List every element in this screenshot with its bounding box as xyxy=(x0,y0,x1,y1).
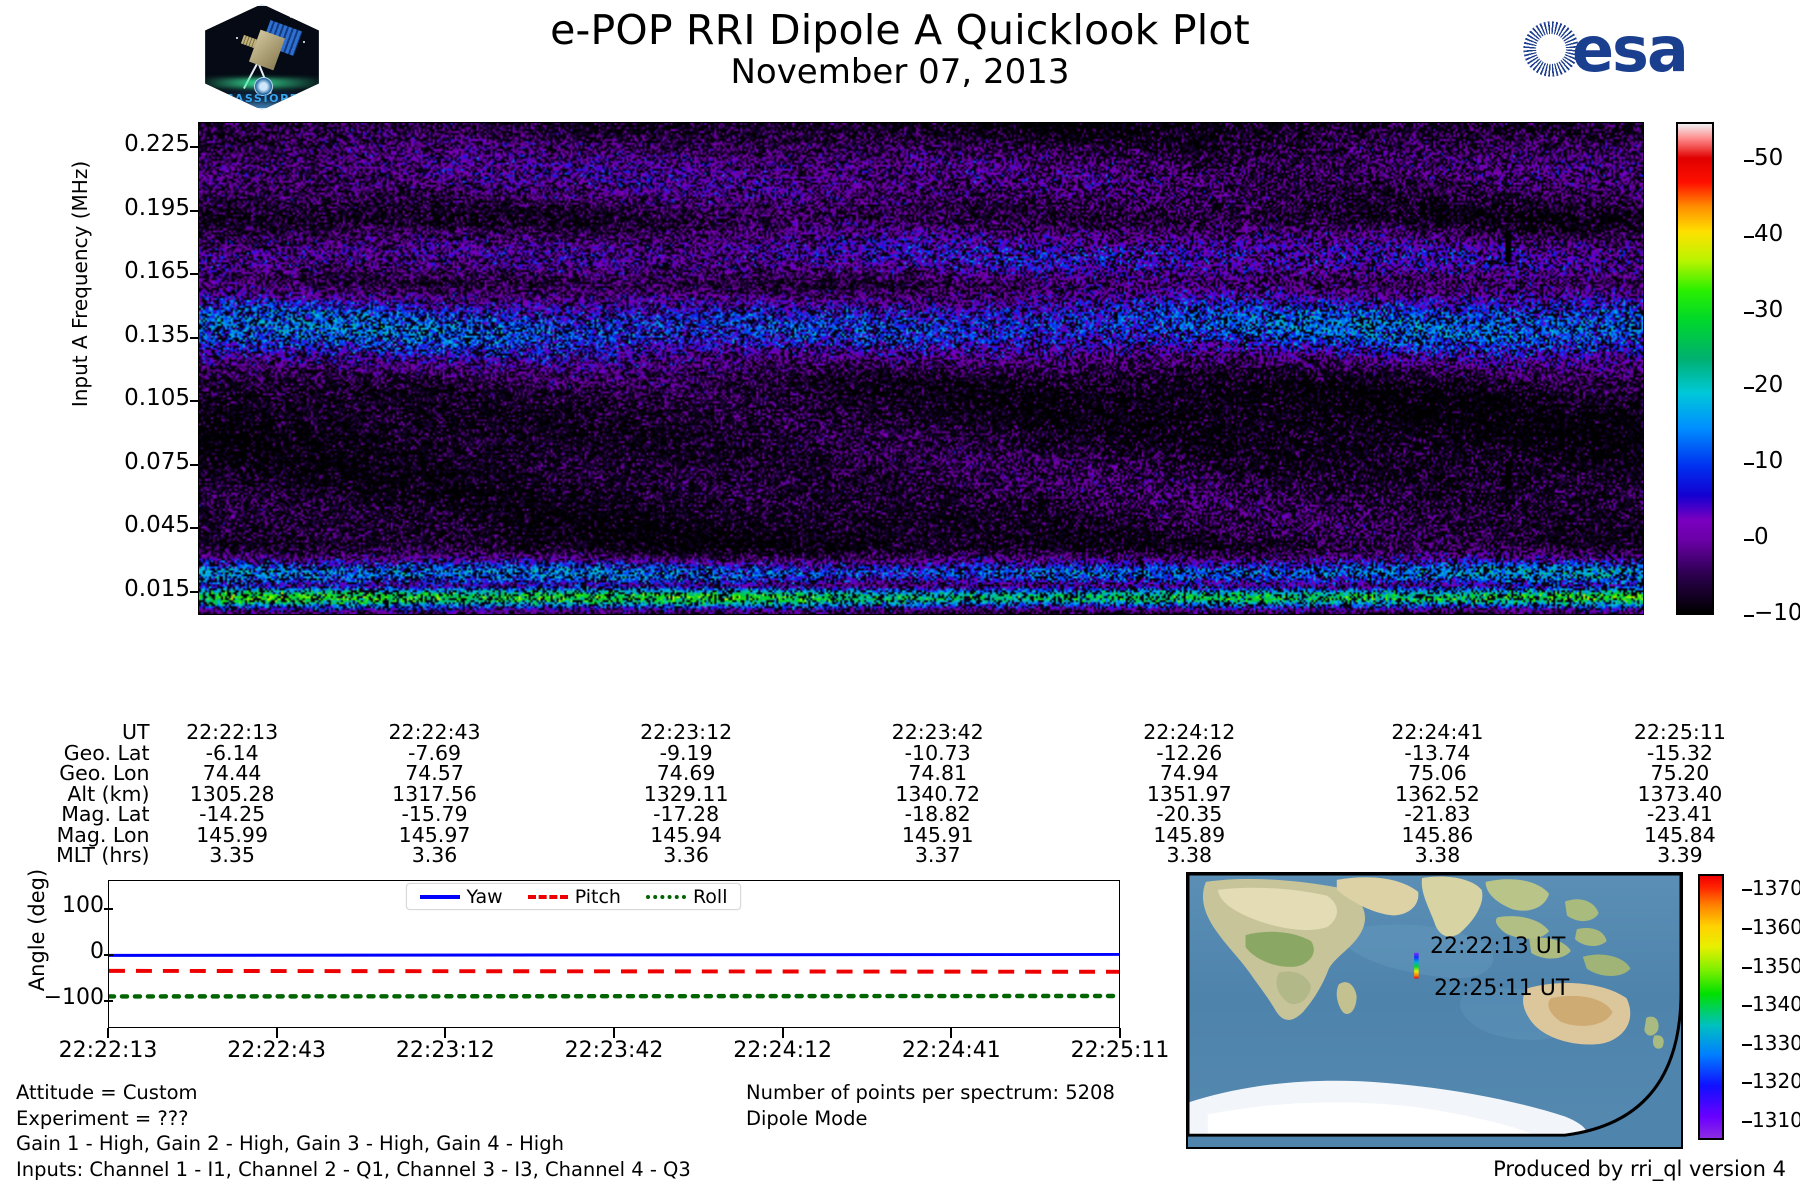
ephemeris-cell: -9.19 xyxy=(560,743,812,764)
altitude-colorbar-ticks: 1370136013501340133013201310 xyxy=(1724,874,1800,1140)
ephemeris-cell: 22:23:12 xyxy=(560,722,812,743)
altitude-colorbar xyxy=(1698,874,1724,1140)
altitude-colorbar-tickmark xyxy=(1742,967,1752,969)
legend-item-yaw: Yaw xyxy=(420,886,503,908)
esa-wordmark: esa xyxy=(1572,13,1687,86)
map-end-time-label: 22:25:11 UT xyxy=(1434,976,1569,1001)
altitude-colorbar-tick: 1350 xyxy=(1752,954,1800,978)
voltage-colorbar-tickmark xyxy=(1744,539,1754,541)
spectrogram-y-tick: 0.135 xyxy=(40,322,190,348)
altitude-colorbar-tick: 1370 xyxy=(1752,876,1800,900)
ephemeris-cell: -15.79 xyxy=(309,804,561,825)
attitude-x-tickmark xyxy=(950,1028,952,1038)
ephemeris-cell: 74.44 xyxy=(156,763,309,784)
ephemeris-cell: 22:25:11 xyxy=(1560,722,1800,743)
ephemeris-cell: 3.38 xyxy=(1063,845,1315,866)
ephemeris-cell: 22:23:42 xyxy=(812,722,1064,743)
altitude-colorbar-tick: 1310 xyxy=(1752,1108,1800,1132)
ephemeris-cell: 74.81 xyxy=(812,763,1064,784)
spectrogram-y-tick: 0.075 xyxy=(40,449,190,475)
yaw-line-swatch-icon xyxy=(420,895,460,899)
ephemeris-table: UT22:22:1322:22:4322:23:1222:23:4222:24:… xyxy=(0,722,1800,866)
ephemeris-row: Geo. Lon74.4474.5774.6974.8174.9475.0675… xyxy=(0,763,1800,784)
spectrogram-y-tick: 0.105 xyxy=(40,385,190,411)
voltage-colorbar-tick: 10 xyxy=(1754,448,1783,474)
attitude-y-tickmark xyxy=(104,1000,113,1002)
altitude-colorbar-tickmark xyxy=(1742,928,1752,930)
voltage-colorbar xyxy=(1676,122,1714,615)
spectrogram-y-tick: 0.195 xyxy=(40,195,190,221)
ephemeris-cell: -10.73 xyxy=(812,743,1064,764)
ephemeris-cell: 74.94 xyxy=(1063,763,1315,784)
roll-line-swatch-icon xyxy=(646,895,686,899)
voltage-colorbar-tick: 30 xyxy=(1754,297,1783,323)
voltage-colorbar-tick: −10 xyxy=(1754,600,1800,626)
ephemeris-cell: -17.28 xyxy=(560,804,812,825)
spectrogram-y-tickmark xyxy=(190,146,199,148)
spectrogram-y-tick: 0.225 xyxy=(40,131,190,157)
ephemeris-cell: 22:22:13 xyxy=(156,722,309,743)
ephemeris-row: Mag. Lon145.99145.97145.94145.91145.8914… xyxy=(0,825,1800,846)
ground-track-map xyxy=(1186,872,1683,1149)
ephemeris-row-label: MLT (hrs) xyxy=(0,845,156,866)
ephemeris-cell: 145.99 xyxy=(156,825,309,846)
attitude-y-tick: 0 xyxy=(14,939,104,964)
ephemeris-cell: 3.38 xyxy=(1315,845,1560,866)
footer-gain-line: Gain 1 - High, Gain 2 - High, Gain 3 - H… xyxy=(16,1131,691,1157)
attitude-x-tick: 22:24:12 xyxy=(703,1038,863,1063)
voltage-colorbar-tickmark xyxy=(1744,312,1754,314)
ephemeris-cell: -23.41 xyxy=(1560,804,1800,825)
ephemeris-cell: 22:22:43 xyxy=(309,722,561,743)
spectrogram-panel xyxy=(198,122,1644,615)
ephemeris-cell: -7.69 xyxy=(309,743,561,764)
legend-label-roll: Roll xyxy=(693,886,728,908)
ephemeris-cell: 3.36 xyxy=(560,845,812,866)
attitude-x-tickmark xyxy=(444,1028,446,1038)
spectrogram-y-tickmark xyxy=(190,400,199,402)
voltage-colorbar-tickmark xyxy=(1744,160,1754,162)
attitude-y-tickmark xyxy=(104,954,113,956)
footer-experiment-line: Experiment = ??? xyxy=(16,1106,691,1132)
ephemeris-row: Mag. Lat-14.25-15.79-17.28-18.82-20.35-2… xyxy=(0,804,1800,825)
spectrogram-y-tick: 0.045 xyxy=(40,512,190,538)
ephemeris-cell: 75.06 xyxy=(1315,763,1560,784)
ephemeris-cell: 1351.97 xyxy=(1063,784,1315,805)
ephemeris-cell: 3.36 xyxy=(309,845,561,866)
ephemeris-row-label: Geo. Lat xyxy=(0,743,156,764)
attitude-x-tickmark xyxy=(613,1028,615,1038)
voltage-colorbar-tickmark xyxy=(1744,463,1754,465)
legend-item-roll: Roll xyxy=(646,886,728,908)
footer-left-block: Attitude = Custom Experiment = ??? Gain … xyxy=(16,1080,691,1182)
altitude-colorbar-tickmark xyxy=(1742,889,1752,891)
spectrogram-y-tickmark xyxy=(190,273,199,275)
attitude-y-ticks: 1000−100 xyxy=(0,880,104,1028)
altitude-colorbar-tickmark xyxy=(1742,1082,1752,1084)
ephemeris-cell: 145.84 xyxy=(1560,825,1800,846)
ephemeris-cell: 74.69 xyxy=(560,763,812,784)
voltage-colorbar-tick: 0 xyxy=(1754,524,1769,550)
ephemeris-cell: -13.74 xyxy=(1315,743,1560,764)
spectrogram-y-tickmark xyxy=(190,591,199,593)
ephemeris-row: Alt (km)1305.281317.561329.111340.721351… xyxy=(0,784,1800,805)
ephemeris-row-label: Alt (km) xyxy=(0,784,156,805)
ephemeris-cell: 74.57 xyxy=(309,763,561,784)
pitch-line-swatch-icon xyxy=(528,895,568,899)
attitude-x-tickmark xyxy=(782,1028,784,1038)
ephemeris-cell: 22:24:12 xyxy=(1063,722,1315,743)
altitude-colorbar-tick: 1320 xyxy=(1752,1069,1800,1093)
voltage-colorbar-tickmark xyxy=(1744,236,1754,238)
ephemeris-row-label: UT xyxy=(0,722,156,743)
ephemeris-cell: 1340.72 xyxy=(812,784,1064,805)
footer-points-line: Number of points per spectrum: 5208 xyxy=(746,1080,1115,1106)
spectrogram-y-tickmark xyxy=(190,464,199,466)
ephemeris-cell: 22:24:41 xyxy=(1315,722,1560,743)
attitude-x-tickmark xyxy=(1119,1028,1121,1038)
esa-logo: esa xyxy=(1520,14,1745,82)
attitude-x-tickmark xyxy=(107,1028,109,1038)
ephemeris-cell: 145.86 xyxy=(1315,825,1560,846)
voltage-colorbar-tickmark xyxy=(1744,387,1754,389)
ephemeris-cell: 145.91 xyxy=(812,825,1064,846)
voltage-colorbar-ticks: 50403020100−10 xyxy=(1714,122,1800,615)
ephemeris-cell: 3.39 xyxy=(1560,845,1800,866)
altitude-colorbar-tick: 1340 xyxy=(1752,992,1800,1016)
legend-label-pitch: Pitch xyxy=(575,886,621,908)
attitude-x-tick: 22:23:42 xyxy=(534,1038,694,1063)
ephemeris-cell: 3.35 xyxy=(156,845,309,866)
spectrogram-y-tickmark xyxy=(190,527,199,529)
spectrogram-y-tick: 0.015 xyxy=(40,576,190,602)
cassiope-patch-label: CASSIOPE xyxy=(198,92,326,105)
footer-inputs-line: Inputs: Channel 1 - I1, Channel 2 - Q1, … xyxy=(16,1157,691,1183)
altitude-colorbar-tickmark xyxy=(1742,1121,1752,1123)
ephemeris-cell: -15.32 xyxy=(1560,743,1800,764)
attitude-x-tick: 22:25:11 xyxy=(1040,1038,1200,1063)
ephemeris-cell: 145.97 xyxy=(309,825,561,846)
voltage-colorbar-tickmark xyxy=(1744,615,1754,617)
altitude-colorbar-tickmark xyxy=(1742,1044,1752,1046)
ephemeris-cell: 145.89 xyxy=(1063,825,1315,846)
altitude-colorbar-tick: 1330 xyxy=(1752,1031,1800,1055)
ephemeris-cell: 145.94 xyxy=(560,825,812,846)
ephemeris-cell: -21.83 xyxy=(1315,804,1560,825)
ephemeris-cell: -20.35 xyxy=(1063,804,1315,825)
ephemeris-cell: 75.20 xyxy=(1560,763,1800,784)
attitude-y-tickmark xyxy=(104,908,113,910)
ephemeris-row-label: Mag. Lon xyxy=(0,825,156,846)
voltage-colorbar-tick: 50 xyxy=(1754,145,1783,171)
ephemeris-cell: 1362.52 xyxy=(1315,784,1560,805)
attitude-x-tick: 22:22:43 xyxy=(197,1038,357,1063)
ephemeris-row: UT22:22:1322:22:4322:23:1222:23:4222:24:… xyxy=(0,722,1800,743)
ephemeris-cell: -6.14 xyxy=(156,743,309,764)
ephemeris-row-label: Mag. Lat xyxy=(0,804,156,825)
footer-mode-line: Dipole Mode xyxy=(746,1106,1115,1132)
voltage-colorbar-tick: 40 xyxy=(1754,221,1783,247)
spectrogram-y-tickmark xyxy=(190,337,199,339)
footer-center-block: Number of points per spectrum: 5208 Dipo… xyxy=(746,1080,1115,1131)
altitude-colorbar-tick: 1360 xyxy=(1752,915,1800,939)
spectrogram-y-tick: 0.165 xyxy=(40,258,190,284)
ephemeris-cell: 1329.11 xyxy=(560,784,812,805)
attitude-y-tick: 100 xyxy=(14,893,104,918)
spectrogram-canvas xyxy=(199,123,1643,614)
footer-attitude-line: Attitude = Custom xyxy=(16,1080,691,1106)
legend-item-pitch: Pitch xyxy=(528,886,621,908)
attitude-x-tick: 22:22:13 xyxy=(28,1038,188,1063)
map-start-time-label: 22:22:13 UT xyxy=(1430,934,1565,959)
ephemeris-cell: 1305.28 xyxy=(156,784,309,805)
attitude-x-tick: 22:24:41 xyxy=(871,1038,1031,1063)
ephemeris-row: Geo. Lat-6.14-7.69-9.19-10.73-12.26-13.7… xyxy=(0,743,1800,764)
produced-by-text: Produced by rri_ql version 4 xyxy=(1493,1157,1786,1181)
spectrogram-y-tickmark xyxy=(190,210,199,212)
ephemeris-cell: -18.82 xyxy=(812,804,1064,825)
spectrogram-y-ticks: 0.2250.1950.1650.1350.1050.0750.0450.015 xyxy=(30,122,190,615)
attitude-x-tickmark xyxy=(276,1028,278,1038)
attitude-legend: Yaw Pitch Roll xyxy=(406,883,741,910)
ephemeris-cell: -12.26 xyxy=(1063,743,1315,764)
ephemeris-cell: 3.37 xyxy=(812,845,1064,866)
attitude-x-tick: 22:23:12 xyxy=(365,1038,525,1063)
ephemeris-cell: 1373.40 xyxy=(1560,784,1800,805)
ephemeris-row-label: Geo. Lon xyxy=(0,763,156,784)
ephemeris-cell: 1317.56 xyxy=(309,784,561,805)
ephemeris-cell: -14.25 xyxy=(156,804,309,825)
voltage-colorbar-tick: 20 xyxy=(1754,372,1783,398)
altitude-colorbar-tickmark xyxy=(1742,1005,1752,1007)
legend-label-yaw: Yaw xyxy=(467,886,503,908)
ephemeris-row: MLT (hrs)3.353.363.363.373.383.383.39 xyxy=(0,845,1800,866)
map-graphic xyxy=(1188,874,1681,1147)
attitude-y-tick: −100 xyxy=(14,985,104,1010)
